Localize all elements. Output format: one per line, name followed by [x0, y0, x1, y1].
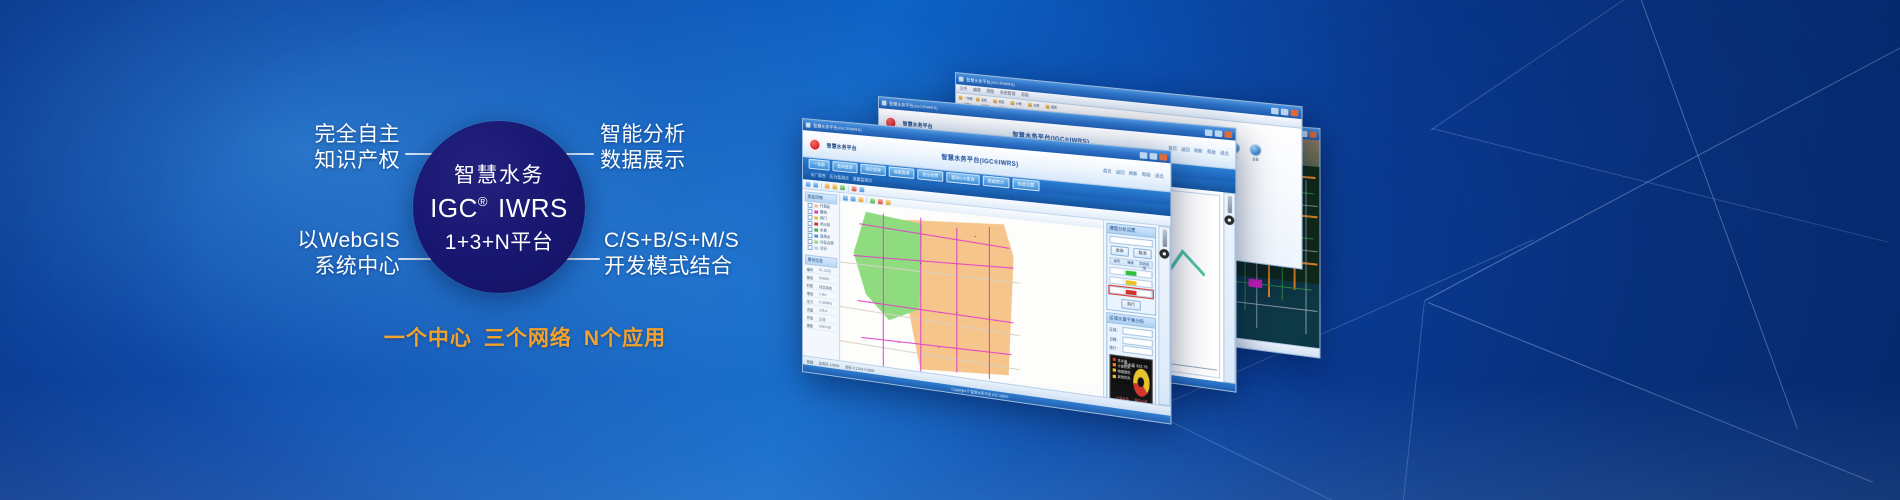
label-bottom-left-line1: 以WebGIS: [230, 228, 400, 254]
company-logo-icon: [809, 137, 821, 151]
menu-edit[interactable]: 编辑: [973, 87, 981, 94]
label-bottom-right: C/S+B/S+M/S 开发模式结合: [604, 228, 814, 281]
minimize-button[interactable]: [1140, 151, 1148, 158]
front-logo-text: 智慧水务平台: [827, 142, 857, 152]
toolbar-separator: [866, 197, 867, 203]
maximize-button[interactable]: [1150, 152, 1158, 159]
label-top-left: 完全自主 知识产权: [240, 122, 400, 175]
zoom-in-icon[interactable]: [806, 181, 811, 186]
legend-swatch: [1113, 374, 1116, 378]
label-bottom-right-line1: C/S+B/S+M/S: [604, 228, 814, 254]
label-bottom-left-line2: 系统中心: [230, 254, 400, 280]
checkbox-icon[interactable]: [808, 215, 813, 221]
quick-link-refresh[interactable]: 刷新: [1194, 148, 1203, 155]
layer-swatch: [814, 222, 818, 225]
close-button[interactable]: [1224, 130, 1232, 137]
minimize-button[interactable]: [1271, 107, 1279, 114]
perspective-line-floor-left-2: [1152, 412, 1422, 500]
status-ready: 就绪: [807, 358, 813, 364]
pipe-branch-v2: [920, 218, 921, 372]
level-indicator: [1126, 270, 1137, 276]
sphere-icon: [1250, 144, 1262, 157]
tool-item[interactable]: 调度: [993, 99, 1008, 105]
map-zoom-in-icon[interactable]: [843, 195, 848, 201]
dialog-analysis-body: 查询 取消 编号 等级 影响范围: [1107, 233, 1155, 314]
scrollbar-thumb[interactable]: [1162, 229, 1166, 247]
front-right-panel[interactable]: 爆管分析设置 查询 取消 编号 等级 影响范围: [1103, 220, 1158, 404]
tagline-part-2: 三个网络: [484, 327, 572, 350]
maximize-button[interactable]: [1281, 108, 1289, 115]
map-icon: [959, 95, 963, 99]
perspective-line-corner: [1395, 300, 1425, 500]
map-measure-icon[interactable]: [870, 198, 875, 204]
water-balance-donut-chart[interactable]: 售水量 计量损失 物理漏损 其他损失 供水量 322.75 计量水量 漏损水量: [1109, 353, 1152, 404]
quick-link-back[interactable]: 返回: [1116, 169, 1125, 176]
label-top-left-line1: 完全自主: [240, 122, 400, 148]
level-indicator: [1126, 289, 1137, 295]
badge-line-1: 智慧水务: [454, 159, 544, 189]
tool-item[interactable]: 一张图: [959, 95, 974, 101]
banner-stage: 完全自主 知识产权 智能分析 数据展示 以WebGIS 系统中心 C/S+B/S…: [0, 0, 1900, 500]
pan-icon[interactable]: [825, 183, 830, 189]
menu-help[interactable]: 帮助: [1021, 92, 1029, 99]
maximize-button[interactable]: [1215, 130, 1223, 137]
annotate-icon[interactable]: [852, 186, 857, 192]
close-button[interactable]: [1309, 131, 1316, 138]
front-left-panel[interactable]: 图层控制 行政区 管线 阀门 消火栓 水表 监测点 分区边界 注记 属性信息 编…: [803, 189, 840, 360]
perspective-line-lower-right: [1425, 9, 1900, 301]
close-button[interactable]: [1291, 109, 1299, 116]
label-top-right-line1: 智能分析: [600, 122, 790, 148]
center-badge: 智慧水务 IGC®IWRS 1+3+N平台: [413, 121, 585, 293]
donut-graphic: [1133, 367, 1150, 397]
tool-item[interactable]: 报警: [1046, 104, 1062, 110]
sat-selection-highlight: [1249, 278, 1263, 288]
window-front-wrap: 智慧水务平台(IGC®IWRS) 智慧水务平台 智慧水务平台(IGC®IWRS)…: [802, 118, 1169, 422]
checkbox-icon[interactable]: [808, 245, 813, 251]
menu-system[interactable]: 系统管理: [1000, 90, 1015, 98]
layer-swatch: [814, 210, 818, 213]
meter-icon: [1010, 101, 1014, 105]
level-indicator: [1126, 280, 1137, 286]
map-pan-icon[interactable]: [858, 196, 863, 202]
scrollbar-thumb[interactable]: [1227, 196, 1231, 214]
label-top-right: 智能分析 数据展示: [600, 122, 790, 175]
registered-mark-icon: ®: [478, 194, 488, 209]
sub-tab[interactable]: 流量监测点: [853, 176, 872, 184]
dialog-burst-analysis[interactable]: 爆管分析设置 查询 取消 编号 等级 影响范围: [1106, 222, 1156, 315]
menu-file[interactable]: 文件: [960, 85, 968, 92]
window-front[interactable]: 智慧水务平台(IGC®IWRS) 智慧水务平台 智慧水务平台(IGC®IWRS)…: [802, 118, 1171, 425]
checkbox-icon[interactable]: [808, 233, 813, 239]
perspective-line-vertical-right: [1619, 0, 1798, 429]
label-bottom-right-line2: 开发模式结合: [604, 254, 814, 280]
toolbar-separator: [821, 182, 822, 188]
layer-swatch: [814, 228, 818, 231]
perspective-line-lower-right-2: [1428, 302, 1873, 483]
dispatch-icon: [993, 99, 997, 103]
legend-swatch: [1113, 369, 1116, 373]
checkbox-icon[interactable]: [808, 227, 813, 233]
query-icon[interactable]: [840, 185, 845, 191]
checkbox-icon[interactable]: [808, 203, 813, 209]
dialog-monitor-body: 区域： 日期： 统计：: [1107, 323, 1155, 405]
layer-swatch: [814, 216, 818, 219]
app-icon: [959, 76, 964, 81]
dialog-water-balance[interactable]: 区域水量平衡分析 区域： 日期： 统计：: [1106, 312, 1156, 404]
quick-link-back[interactable]: 返回: [1181, 146, 1190, 153]
legend-item: 其他损失: [1113, 374, 1131, 381]
front-brand-title: 智慧水务平台(IGC®IWRS): [941, 151, 1018, 168]
middle-quick-links[interactable]: 首页 返回 刷新 帮助 退出: [1168, 145, 1229, 157]
middle-vertical-scrollbar[interactable]: [1223, 192, 1235, 384]
quick-link-help[interactable]: 帮助: [1207, 149, 1216, 156]
badge-product: IWRS: [498, 193, 568, 224]
sat-base-v3: [1306, 180, 1307, 334]
window-controls[interactable]: [1271, 107, 1298, 116]
menu-view[interactable]: 视图: [986, 88, 994, 95]
tool-item[interactable]: 水质: [1028, 103, 1044, 109]
tool-item[interactable]: 计量: [1010, 101, 1026, 107]
pipe-branch-v4: [989, 227, 990, 379]
layer-swatch: [814, 240, 818, 243]
layer-swatch: [814, 246, 818, 249]
legend-swatch: [1113, 363, 1116, 367]
tagline-part-1: 一个中心: [384, 327, 472, 350]
infographic: 完全自主 知识产权 智能分析 数据展示 以WebGIS 系统中心 C/S+B/S…: [0, 0, 820, 500]
pan-control-icon[interactable]: [1159, 248, 1169, 259]
map-zoom-out-icon[interactable]: [851, 196, 856, 202]
legend-swatch: [1113, 358, 1116, 362]
big-icon-button[interactable]: 设置: [1247, 143, 1263, 162]
tagline-part-3: N个应用: [584, 327, 666, 350]
pipe-branch-v3: [956, 228, 957, 373]
sub-tab[interactable]: 压力监测点: [830, 174, 849, 182]
tool-item[interactable]: 巡检: [976, 97, 991, 103]
badge-line-3: 1+3+N平台: [445, 226, 554, 256]
map-identify-icon[interactable]: [878, 198, 883, 204]
front-quick-links[interactable]: 首页 返回 刷新 帮助 退出: [1103, 168, 1164, 180]
window-controls[interactable]: [1140, 151, 1167, 160]
quick-link-exit[interactable]: 退出: [1220, 150, 1229, 157]
quick-link-home[interactable]: 首页: [1103, 168, 1112, 175]
measure-icon[interactable]: [832, 184, 837, 190]
layer-swatch: [814, 204, 818, 207]
badge-brand: IGC: [430, 193, 478, 224]
checkbox-icon[interactable]: [808, 221, 813, 227]
label-bottom-left: 以WebGIS 系统中心: [230, 228, 400, 281]
front-vertical-scrollbar[interactable]: [1158, 226, 1170, 406]
quick-link-refresh[interactable]: 刷新: [1129, 170, 1138, 177]
quick-link-exit[interactable]: 退出: [1155, 173, 1164, 180]
analysis-footer-row[interactable]: 执行: [1109, 297, 1152, 312]
checkbox-icon[interactable]: [808, 209, 813, 215]
perspective-line-upper-right: [1430, 0, 1900, 131]
analysis-execute-button[interactable]: 执行: [1122, 299, 1141, 311]
perspective-line-upper-right-2: [1432, 128, 1888, 243]
nav-tab[interactable]: 一张图: [809, 159, 830, 171]
close-button[interactable]: [1159, 153, 1167, 160]
quality-icon: [1028, 103, 1032, 107]
app-icon: [882, 100, 887, 105]
badge-brand-line: IGC®IWRS: [430, 193, 568, 224]
window-controls[interactable]: [1205, 129, 1232, 138]
map-print-icon[interactable]: [886, 199, 891, 205]
layer-swatch: [814, 234, 818, 237]
quick-link-help[interactable]: 帮助: [1142, 171, 1151, 178]
tagline: 一个中心三个网络N个应用: [355, 322, 695, 352]
app-icon: [806, 122, 811, 127]
zoom-out-icon[interactable]: [813, 182, 818, 187]
checkbox-icon[interactable]: [808, 239, 813, 245]
analysis-ok-button[interactable]: 查询: [1110, 245, 1129, 257]
toolbar-separator: [848, 185, 849, 191]
minimize-button[interactable]: [1205, 129, 1213, 136]
patrol-icon: [976, 97, 980, 101]
print-icon[interactable]: [859, 187, 864, 193]
alarm-icon: [1046, 104, 1050, 108]
label-top-right-line2: 数据展示: [600, 148, 790, 174]
pan-control-icon[interactable]: [1224, 215, 1234, 226]
sub-tab[interactable]: 水厂综合: [811, 172, 826, 180]
pipe-branch-v1: [883, 214, 884, 367]
analysis-cancel-button[interactable]: 取消: [1133, 248, 1152, 260]
label-top-left-line2: 知识产权: [240, 148, 400, 174]
